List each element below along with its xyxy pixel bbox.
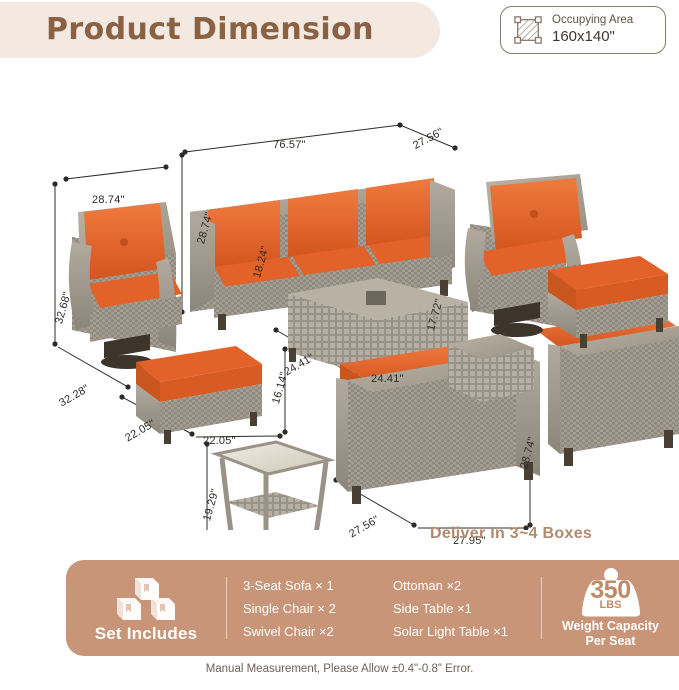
weight-capacity-block: 350 LBS Weight Capacity Per Seat bbox=[542, 568, 679, 649]
weight-icon: 350 LBS bbox=[575, 568, 647, 618]
list-item: Solar Light Table ×1 bbox=[393, 624, 525, 639]
left-chair-illustration bbox=[69, 202, 182, 369]
weight-capacity-caption-2: Per Seat bbox=[585, 634, 635, 648]
dimension-label-sofa-width: 76.57" bbox=[273, 139, 306, 151]
dimension-label-left-chair-width: 28.74" bbox=[92, 194, 125, 206]
dimension-label-coffee-table-width: 24.41" bbox=[371, 373, 404, 385]
footer-note: Manual Measurement, Please Allow ±0.4"-0… bbox=[0, 663, 679, 675]
list-item: 3-Seat Sofa × 1 bbox=[243, 578, 361, 593]
list-item: Side Table ×1 bbox=[393, 601, 525, 616]
deliver-note: Deliver In 3~4 Boxes bbox=[430, 525, 592, 543]
occupying-area-text: Occupying Area 160x140" bbox=[552, 13, 633, 46]
occupying-area-badge: Occupying Area 160x140" bbox=[500, 6, 666, 54]
side-table-illustration bbox=[216, 442, 330, 530]
hatched-square-icon bbox=[513, 15, 543, 45]
furniture-illustration bbox=[0, 62, 679, 530]
header: Product Dimension Occupying Area 160x140… bbox=[0, 0, 679, 62]
front-chair-right-illustration bbox=[536, 310, 679, 466]
back-side-table-illustration bbox=[448, 334, 534, 402]
set-includes-label: Set Includes bbox=[95, 624, 198, 644]
included-items-column-2: Ottoman ×2 Side Table ×1 Solar Light Tab… bbox=[377, 578, 541, 639]
stacked-boxes-icon bbox=[113, 576, 179, 622]
weight-capacity-caption-1: Weight Capacity bbox=[562, 619, 659, 633]
dimension-label-left-ottoman-width: 22.05" bbox=[203, 435, 236, 447]
occupying-area-label: Occupying Area bbox=[552, 13, 633, 27]
set-includes-block: Set Includes bbox=[66, 572, 226, 644]
set-includes-panel: Set Includes 3-Seat Sofa × 1 Single Chai… bbox=[66, 560, 679, 656]
product-diagram: 76.57"27.56"28.74"18.24"28.74"32.68"32.2… bbox=[0, 62, 679, 530]
page-title: Product Dimension bbox=[46, 12, 374, 47]
included-items-column-1: 3-Seat Sofa × 1 Single Chair × 2 Swivel … bbox=[227, 578, 377, 639]
list-item: Ottoman ×2 bbox=[393, 578, 525, 593]
weight-unit: LBS bbox=[575, 599, 647, 611]
occupying-area-value: 160x140" bbox=[552, 28, 633, 47]
list-item: Swivel Chair ×2 bbox=[243, 624, 361, 639]
list-item: Single Chair × 2 bbox=[243, 601, 361, 616]
